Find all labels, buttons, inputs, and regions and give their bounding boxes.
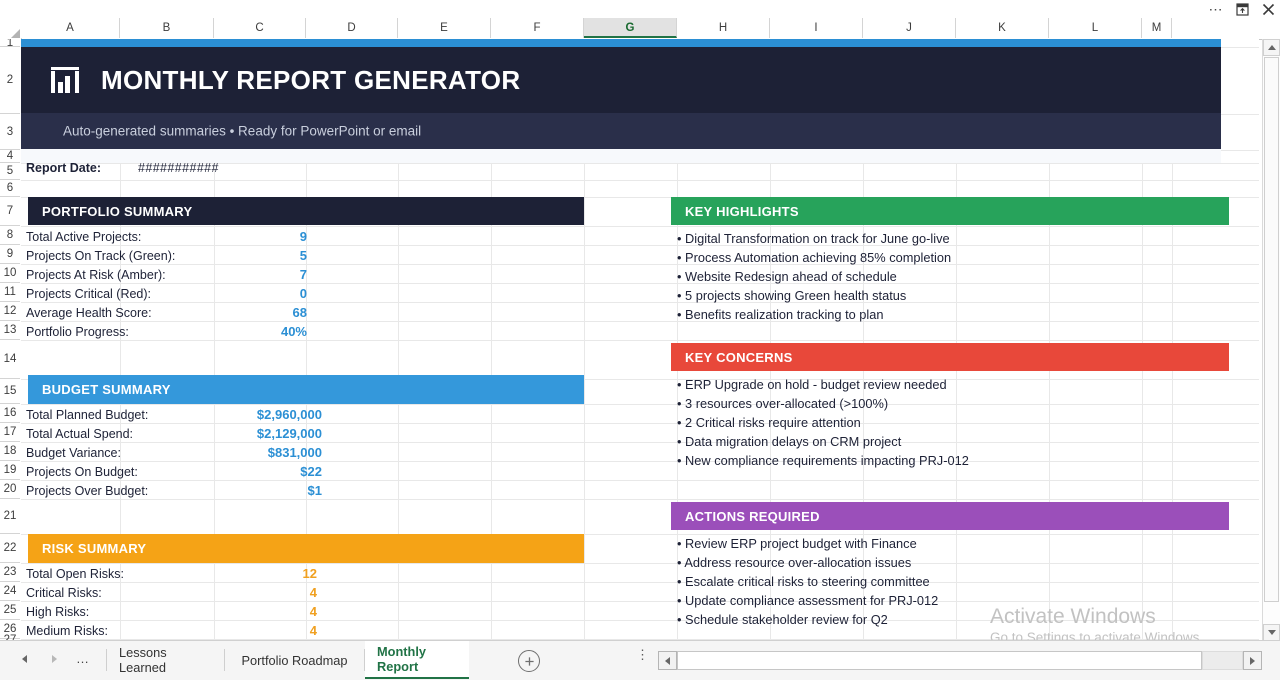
column-header-e[interactable]: E — [398, 18, 491, 38]
grid-line — [21, 480, 1259, 481]
actions-required-header: ACTIONS REQUIRED — [671, 502, 1229, 530]
actions-required-item: • Update compliance assessment for PRJ-0… — [677, 593, 938, 608]
previous-sheet-button[interactable] — [16, 651, 32, 667]
row-header-19[interactable]: 19 — [0, 461, 20, 480]
column-header-i[interactable]: I — [770, 18, 863, 38]
row-header-20[interactable]: 20 — [0, 480, 20, 499]
watermark-title: Activate Windows — [990, 605, 1156, 629]
row-header-10[interactable]: 10 — [0, 264, 20, 283]
report-date-label: Report Date: — [26, 161, 101, 175]
key-concerns-item: • ERP Upgrade on hold - budget review ne… — [677, 377, 947, 392]
horizontal-scroll-thumb[interactable] — [677, 651, 1202, 670]
portfolio-summary-label: Projects On Track (Green): — [26, 249, 175, 263]
grid-line — [21, 340, 1259, 341]
row-header-21[interactable]: 21 — [0, 499, 20, 534]
grid-line — [21, 321, 1259, 322]
scroll-down-button[interactable] — [1263, 624, 1280, 641]
banner-title-band: MONTHLY REPORT GENERATOR — [21, 47, 1221, 113]
row-header-15[interactable]: 15 — [0, 379, 20, 404]
row-header-24[interactable]: 24 — [0, 582, 20, 601]
grid-line — [21, 601, 1259, 602]
row-header-22[interactable]: 22 — [0, 534, 20, 563]
key-concerns-title: KEY CONCERNS — [685, 350, 793, 365]
grid-line — [21, 582, 1259, 583]
key-concerns-item: • 2 Critical risks require attention — [677, 415, 861, 430]
window-title-bar: ⋯ — [0, 0, 1280, 18]
grid-line — [21, 461, 1259, 462]
actions-required-item: • Escalate critical risks to steering co… — [677, 574, 930, 589]
risk-summary-value: 4 — [310, 604, 317, 619]
banner-accent-bar — [21, 39, 1221, 47]
chevron-right-icon — [1250, 657, 1255, 665]
key-highlights-item: • Benefits realization tracking to plan — [677, 307, 884, 322]
column-header-a[interactable]: A — [21, 18, 120, 38]
grid-line — [21, 404, 1259, 405]
portfolio-summary-header: PORTFOLIO SUMMARY — [28, 197, 584, 225]
row-header-11[interactable]: 11 — [0, 283, 20, 302]
key-concerns-item: • New compliance requirements impacting … — [677, 453, 969, 468]
row-header-16[interactable]: 16 — [0, 404, 20, 423]
risk-summary-header: RISK SUMMARY — [28, 534, 584, 563]
row-header-column: 1234567891011121314151617181920212223242… — [0, 39, 22, 641]
risk-summary-label: Total Open Risks: — [26, 567, 124, 581]
portfolio-summary-label: Average Health Score: — [26, 306, 152, 320]
column-header-l[interactable]: L — [1049, 18, 1142, 38]
row-header-4[interactable]: 4 — [0, 150, 20, 163]
budget-summary-value: $2,129,000 — [257, 426, 322, 441]
close-window-icon[interactable] — [1260, 1, 1276, 17]
portfolio-summary-value: 40% — [281, 324, 307, 339]
row-header-1[interactable]: 1 — [0, 39, 20, 47]
plus-icon — [524, 656, 535, 667]
portfolio-summary-value: 5 — [300, 248, 307, 263]
portfolio-summary-value: 9 — [300, 229, 307, 244]
row-header-5[interactable]: 5 — [0, 163, 20, 180]
column-header-f[interactable]: F — [491, 18, 584, 38]
key-concerns-item: • Data migration delays on CRM project — [677, 434, 901, 449]
grid-line — [21, 180, 1259, 181]
budget-summary-label: Projects On Budget: — [26, 465, 138, 479]
more-options-icon[interactable]: ⋯ — [1208, 1, 1224, 17]
banner-subtitle-band: Auto-generated summaries • Ready for Pow… — [21, 113, 1221, 149]
portfolio-summary-label: Total Active Projects: — [26, 230, 141, 244]
budget-summary-label: Budget Variance: — [26, 446, 121, 460]
hscroll-right-button[interactable] — [1243, 651, 1262, 670]
row-header-25[interactable]: 25 — [0, 601, 20, 620]
key-highlights-title: KEY HIGHLIGHTS — [685, 204, 799, 219]
vertical-scrollbar[interactable] — [1262, 39, 1280, 641]
portfolio-summary-label: Projects Critical (Red): — [26, 287, 151, 301]
chevron-right-icon — [52, 655, 57, 663]
key-highlights-item: • 5 projects showing Green health status — [677, 288, 906, 303]
grid-line — [21, 264, 1259, 265]
report-date-value[interactable]: ########### — [138, 161, 219, 175]
row-header-14[interactable]: 14 — [0, 340, 20, 379]
chevron-down-icon — [1268, 630, 1276, 635]
budget-summary-label: Total Actual Spend: — [26, 427, 133, 441]
portfolio-summary-title: PORTFOLIO SUMMARY — [42, 204, 192, 219]
actions-required-item: • Review ERP project budget with Finance — [677, 536, 917, 551]
row-header-18[interactable]: 18 — [0, 442, 20, 461]
worksheet-grid[interactable]: MONTHLY REPORT GENERATOR Auto-generated … — [21, 39, 1259, 641]
column-header-m[interactable]: M — [1142, 18, 1172, 38]
budget-summary-value: $1 — [308, 483, 322, 498]
row-header-7[interactable]: 7 — [0, 197, 20, 226]
add-sheet-button[interactable] — [518, 650, 540, 672]
column-header-h[interactable]: H — [677, 18, 770, 38]
column-header-g[interactable]: G — [584, 18, 677, 38]
column-header-j[interactable]: J — [863, 18, 956, 38]
budget-summary-value: $22 — [300, 464, 322, 479]
sheet-tab-portfolio-roadmap[interactable]: Portfolio Roadmap — [225, 641, 364, 679]
page-title: MONTHLY REPORT GENERATOR — [101, 65, 520, 96]
row-header-3[interactable]: 3 — [0, 114, 20, 150]
window-controls: ⋯ — [1208, 0, 1276, 18]
risk-summary-value: 4 — [310, 623, 317, 638]
risk-summary-title: RISK SUMMARY — [42, 541, 146, 556]
portfolio-summary-value: 7 — [300, 267, 307, 282]
scroll-up-button[interactable] — [1263, 39, 1280, 56]
key-concerns-item: • 3 resources over-allocated (>100%) — [677, 396, 888, 411]
actions-required-item: • Address resource over-allocation issue… — [677, 555, 911, 570]
grid-line — [21, 442, 1259, 443]
hscroll-left-button[interactable] — [658, 651, 677, 670]
key-highlights-item: • Process Automation achieving 85% compl… — [677, 250, 951, 265]
risk-summary-value: 4 — [310, 585, 317, 600]
budget-summary-label: Total Planned Budget: — [26, 408, 148, 422]
key-concerns-header: KEY CONCERNS — [671, 343, 1229, 371]
sheet-list-ellipsis[interactable]: … — [76, 654, 90, 664]
budget-summary-value: $831,000 — [268, 445, 322, 460]
risk-summary-label: Medium Risks: — [26, 624, 108, 638]
actions-required-item: • Schedule stakeholder review for Q2 — [677, 612, 888, 627]
banner-subtitle: Auto-generated summaries • Ready for Pow… — [63, 124, 421, 139]
sheet-tab-monthly-report[interactable]: Monthly Report — [365, 641, 469, 679]
key-highlights-item: • Website Redesign ahead of schedule — [677, 269, 897, 284]
budget-summary-value: $2,960,000 — [257, 407, 322, 422]
sheet-tab-bar: … Lessons LearnedPortfolio RoadmapMonthl… — [0, 640, 1280, 680]
next-sheet-button[interactable] — [46, 651, 62, 667]
portfolio-summary-label: Portfolio Progress: — [26, 325, 129, 339]
vertical-scroll-thumb[interactable] — [1264, 57, 1279, 602]
grid-line — [21, 226, 1259, 227]
portfolio-summary-value: 68 — [293, 305, 307, 320]
row-header-12[interactable]: 12 — [0, 302, 20, 321]
grid-line — [21, 283, 1259, 284]
horizontal-scroll-track[interactable] — [1202, 651, 1243, 670]
bar-chart-logo-icon — [51, 67, 79, 93]
portfolio-summary-label: Projects At Risk (Amber): — [26, 268, 166, 282]
chevron-left-icon — [665, 657, 670, 665]
sheet-nav-buttons: … — [16, 651, 90, 667]
grid-line — [21, 245, 1259, 246]
risk-summary-label: Critical Risks: — [26, 586, 102, 600]
risk-summary-label: High Risks: — [26, 605, 89, 619]
select-all-corner[interactable] — [0, 18, 22, 40]
chevron-up-icon — [1268, 45, 1276, 50]
column-header-row: ABCDEFGHIJKLM — [0, 18, 1280, 40]
row-header-13[interactable]: 13 — [0, 321, 20, 340]
grid-line — [21, 423, 1259, 424]
grid-line — [21, 499, 1259, 500]
restore-window-icon[interactable] — [1234, 1, 1250, 17]
row-header-6[interactable]: 6 — [0, 180, 20, 197]
chevron-left-icon — [22, 655, 27, 663]
sheet-options-button[interactable]: ⋮ — [636, 653, 648, 657]
column-header-b[interactable]: B — [120, 18, 214, 38]
row-header-17[interactable]: 17 — [0, 423, 20, 442]
row-header-23[interactable]: 23 — [0, 563, 20, 582]
grid-line — [21, 302, 1259, 303]
budget-summary-label: Projects Over Budget: — [26, 484, 148, 498]
key-highlights-item: • Digital Transformation on track for Ju… — [677, 231, 950, 246]
budget-summary-header: BUDGET SUMMARY — [28, 375, 584, 404]
risk-summary-value: 12 — [303, 566, 317, 581]
column-header-k[interactable]: K — [956, 18, 1049, 38]
actions-required-title: ACTIONS REQUIRED — [685, 509, 820, 524]
sheet-tab-lessons-learned[interactable]: Lessons Learned — [107, 641, 224, 679]
grid-line — [21, 563, 1259, 564]
row-header-9[interactable]: 9 — [0, 245, 20, 264]
column-header-c[interactable]: C — [214, 18, 306, 38]
row-header-8[interactable]: 8 — [0, 226, 20, 245]
portfolio-summary-value: 0 — [300, 286, 307, 301]
budget-summary-title: BUDGET SUMMARY — [42, 382, 171, 397]
excel-window: ⋯ ABCDEFGHIJKLM 123456789101112131415161… — [0, 0, 1280, 680]
key-highlights-header: KEY HIGHLIGHTS — [671, 197, 1229, 225]
row-header-2[interactable]: 2 — [0, 47, 20, 114]
column-header-d[interactable]: D — [306, 18, 398, 38]
